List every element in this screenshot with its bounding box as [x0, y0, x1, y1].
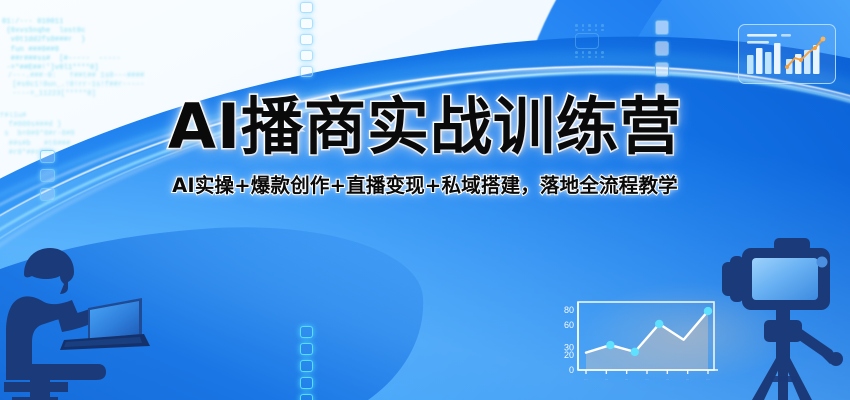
chip-rectangle-icon: [575, 33, 599, 49]
dot-row: [575, 56, 604, 59]
svg-text:···: ···: [645, 378, 648, 382]
line-chart-svg: 020306080 ·····················: [548, 296, 722, 396]
line-chart-area-fill: [586, 311, 708, 370]
svg-text:···: ···: [666, 378, 669, 382]
line-chart-marker: [704, 307, 712, 315]
dot-row: [575, 24, 604, 27]
svg-text:60: 60: [564, 320, 574, 330]
rounded-square-icon: [300, 66, 313, 77]
rounded-square-icon: [300, 343, 313, 355]
dot-row: [575, 29, 604, 32]
rounded-square-icon: [300, 360, 313, 372]
rounded-square-icon: [655, 62, 669, 77]
code-text-decor-1: 01:/--- 010011 {0xvs5nqhe lost0c v0t1dd2…: [2, 18, 121, 73]
person-with-laptop-icon: [2, 236, 154, 400]
line-chart-x-axis-labels: ·····················: [584, 378, 709, 382]
person-with-laptop-svg: [2, 236, 154, 400]
rounded-square-icon: [655, 20, 669, 35]
bar-chart-trend-svg: [739, 25, 835, 83]
rounded-square-icon: [300, 18, 313, 29]
promo-banner: 01:/--- 010011 {0xvs5nqhe lost0c v0t1dd2…: [0, 0, 850, 400]
page-title: AI播商实战训练营: [0, 96, 850, 158]
svg-text:···: ···: [584, 378, 587, 382]
line-chart-marker: [655, 320, 663, 328]
rounded-square-icon: [300, 377, 313, 389]
svg-text:0: 0: [569, 365, 574, 375]
svg-text:···: ···: [625, 378, 628, 382]
bar-chart-trend-icon: [738, 24, 836, 84]
dot-grid-chip-decor: [575, 22, 604, 60]
page-subtitle: AI实操+爆款创作+直播变现+私域搭建，落地全流程教学: [0, 169, 850, 198]
rounded-square-icon: [300, 34, 313, 45]
rounded-square-icon: [300, 394, 313, 400]
title-block: AI播商实战训练营 AI实操+爆款创作+直播变现+私域搭建，落地全流程教学: [0, 96, 850, 198]
camera-tripod-svg: [716, 232, 850, 400]
svg-text:···: ···: [605, 378, 608, 382]
square-column-right-icon: [655, 20, 669, 98]
rounded-square-icon: [300, 2, 313, 13]
rounded-square-icon: [655, 41, 669, 56]
rounded-square-icon: [300, 326, 313, 338]
svg-text:80: 80: [564, 305, 574, 315]
rounded-square-icon: [300, 50, 313, 61]
dot-row: [575, 51, 604, 54]
svg-text:···: ···: [686, 378, 689, 382]
square-column-mid-bottom-icon: [300, 326, 313, 400]
line-chart: 020306080 ·····················: [548, 296, 722, 400]
svg-text:30: 30: [564, 343, 574, 353]
line-chart-y-axis-labels: 020306080: [564, 305, 574, 375]
camera-on-tripod-icon: [716, 232, 850, 400]
svg-text:···: ···: [706, 378, 709, 382]
square-column-mid-top-icon: [300, 2, 313, 77]
line-chart-marker: [606, 341, 614, 349]
line-chart-marker: [631, 348, 639, 356]
